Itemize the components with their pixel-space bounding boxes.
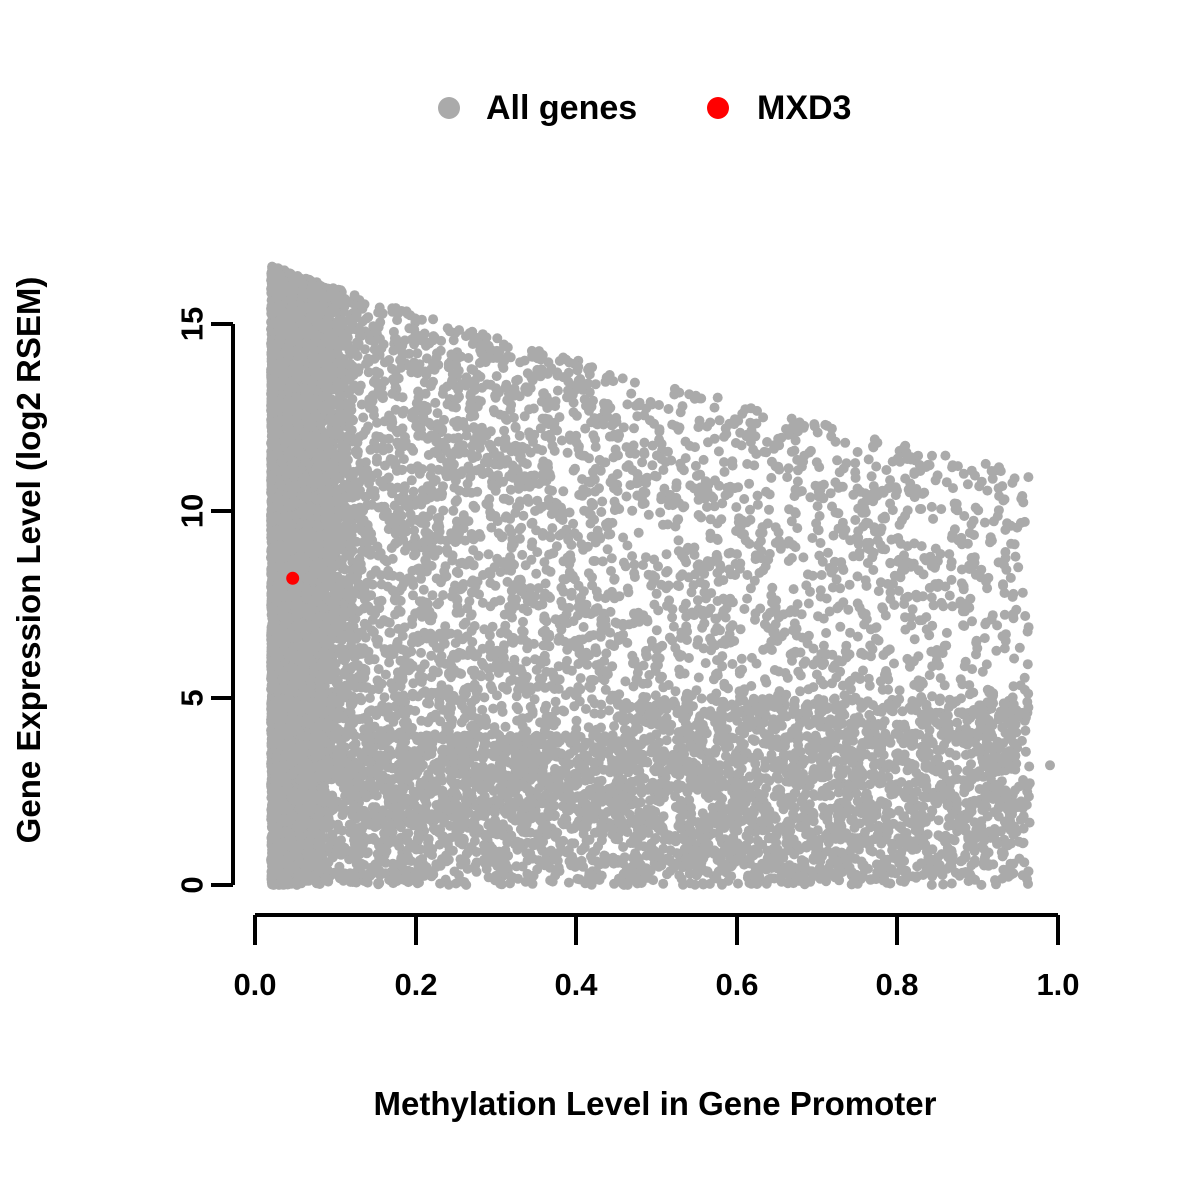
mxd3-data-point (286, 572, 299, 585)
scatter-plot-figure: 0 5 10 15 0.0 0.2 0.4 0.6 0.8 1.0 Methyl… (0, 0, 1200, 1200)
legend-label-all-genes: All genes (486, 89, 637, 127)
x-tick-label-5: 1.0 (1036, 967, 1079, 1002)
legend-label-mxd3: MXD3 (757, 89, 851, 127)
highlight-point-layer (286, 572, 299, 585)
legend-marker-all-genes (438, 97, 460, 119)
x-tick-label-0: 0.0 (233, 967, 276, 1002)
y-tick-label-0: 0 (175, 876, 210, 893)
legend-marker-mxd3 (707, 97, 729, 119)
y-tick-label-10: 10 (175, 494, 210, 528)
x-tick-label-1: 0.2 (394, 967, 437, 1002)
y-tick-label-5: 5 (175, 689, 210, 706)
y-axis-title: Gene Expression Level (log2 RSEM) (10, 277, 47, 844)
plot-canvas: 0 5 10 15 0.0 0.2 0.4 0.6 0.8 1.0 Methyl… (0, 0, 1200, 1200)
x-tick-label-4: 0.8 (875, 967, 918, 1002)
y-tick-label-15: 15 (175, 307, 210, 341)
x-axis-title: Methylation Level in Gene Promoter (374, 1085, 937, 1122)
x-tick-label-3: 0.6 (715, 967, 758, 1002)
x-tick-label-2: 0.4 (554, 967, 598, 1002)
